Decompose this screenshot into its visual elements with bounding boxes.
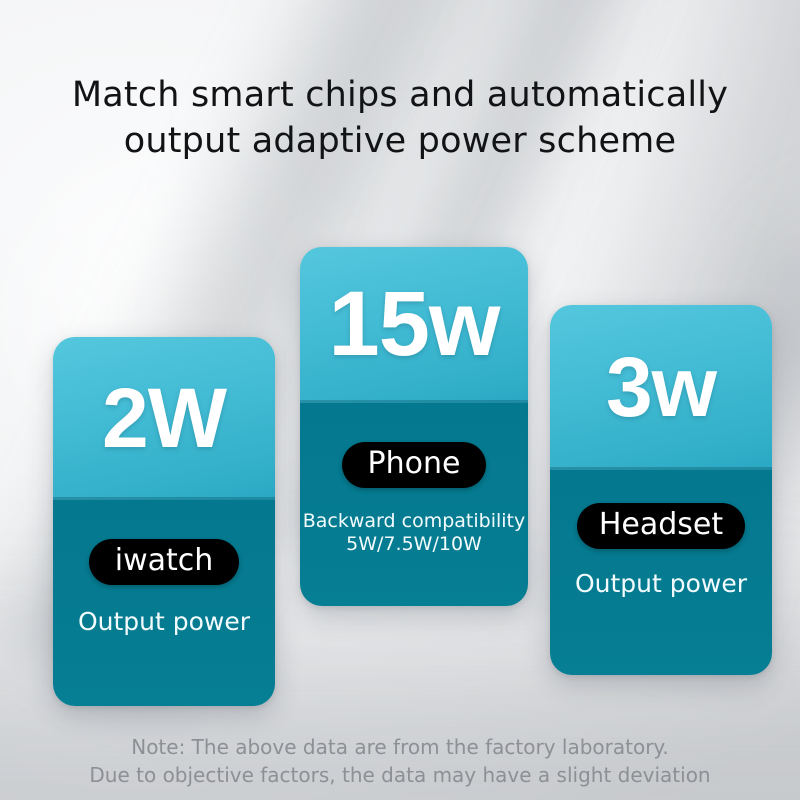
device-badge-headset: Headset bbox=[577, 503, 745, 549]
power-value-headset: 3w bbox=[606, 345, 716, 429]
power-card-headset-top: 3w bbox=[550, 305, 772, 470]
power-card-headset-bottom: Headset Output power bbox=[550, 470, 772, 675]
power-value-phone: 15w bbox=[329, 278, 500, 370]
page-title: Match smart chips and automatically outp… bbox=[0, 72, 800, 164]
power-card-headset[interactable]: 3w Headset Output power bbox=[550, 305, 772, 675]
poster-canvas: Match smart chips and automatically outp… bbox=[0, 0, 800, 800]
power-card-phone-bottom: Phone Backward compatibility 5W/7.5W/10W bbox=[300, 403, 528, 606]
page-title-line-2: output adaptive power scheme bbox=[0, 118, 800, 164]
power-card-phone-top: 15w bbox=[300, 247, 528, 403]
power-caption-headset: Output power bbox=[575, 569, 747, 600]
footnote-line-2: Due to objective factors, the data may h… bbox=[0, 761, 800, 789]
power-card-phone[interactable]: 15w Phone Backward compatibility 5W/7.5W… bbox=[300, 247, 528, 606]
page-title-line-1: Match smart chips and automatically bbox=[0, 72, 800, 118]
power-card-iwatch[interactable]: 2W iwatch Output power bbox=[53, 337, 275, 706]
power-caption-phone: Backward compatibility 5W/7.5W/10W bbox=[303, 510, 526, 556]
device-badge-phone: Phone bbox=[342, 442, 487, 488]
device-badge-iwatch: iwatch bbox=[89, 539, 240, 585]
power-value-iwatch: 2W bbox=[102, 376, 226, 460]
footnote-line-1: Note: The above data are from the factor… bbox=[0, 733, 800, 761]
power-card-iwatch-top: 2W bbox=[53, 337, 275, 500]
footnote: Note: The above data are from the factor… bbox=[0, 733, 800, 789]
power-caption-iwatch: Output power bbox=[78, 607, 250, 638]
power-card-iwatch-bottom: iwatch Output power bbox=[53, 500, 275, 706]
